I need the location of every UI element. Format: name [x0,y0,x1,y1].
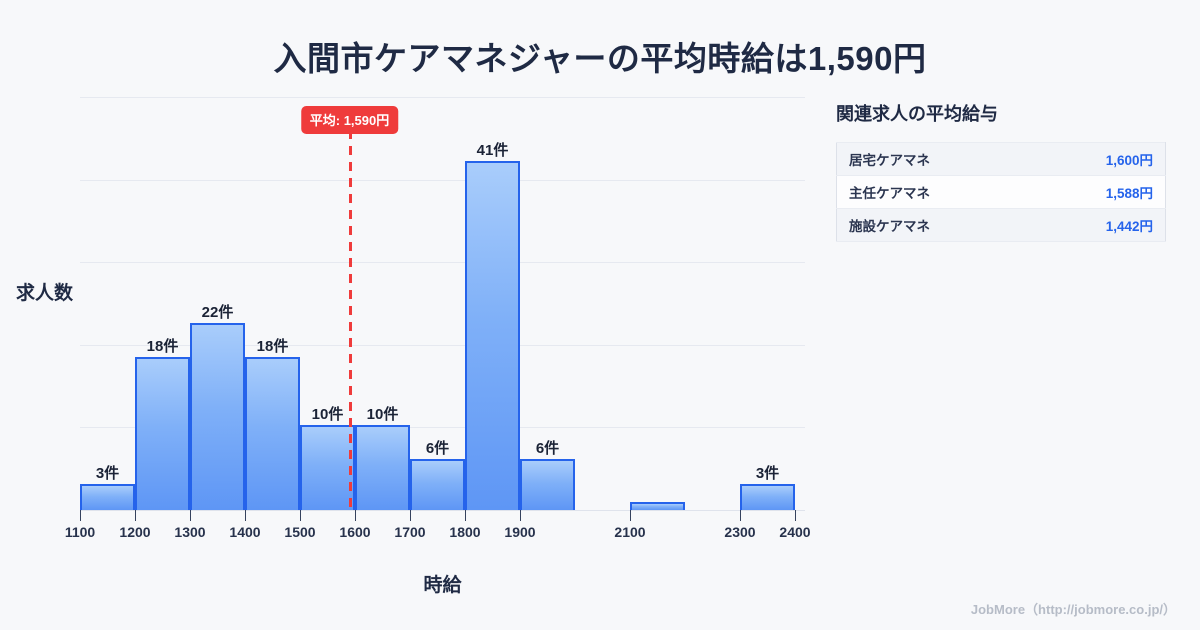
bar-value-label: 3件 [96,462,119,483]
x-axis-tick-label: 1500 [284,524,315,540]
histogram-bar [80,484,135,510]
gridline [80,180,805,181]
x-axis-tick [740,510,741,521]
table-row: 主任ケアマネ1,588円 [837,176,1166,209]
x-axis-tick [80,510,81,521]
x-axis-tick [410,510,411,521]
bar-value-label: 6件 [426,437,449,458]
table-row: 居宅ケアマネ1,600円 [837,143,1166,176]
histogram-bar [630,502,685,511]
job-type-name: 主任ケアマネ [837,176,1033,209]
bar-value-label: 10件 [367,403,399,424]
job-type-salary: 1,588円 [1032,176,1165,209]
x-axis-tick-label: 1300 [174,524,205,540]
histogram-bar [410,459,465,510]
job-type-name: 居宅ケアマネ [837,143,1033,176]
bar-value-label: 22件 [202,301,234,322]
x-axis-tick-label: 1400 [229,524,260,540]
x-axis-line [80,510,805,511]
x-axis-tick-label: 1800 [449,524,480,540]
gridline [80,345,805,346]
histogram-bar [355,425,410,510]
histogram-bar [740,484,795,510]
x-axis-tick-label: 1700 [394,524,425,540]
related-salary-table: 居宅ケアマネ1,600円主任ケアマネ1,588円施設ケアマネ1,442円 [836,142,1166,242]
x-axis-tick-label: 1100 [65,524,95,540]
mean-dashed-line [349,130,352,510]
x-axis-tick-label: 1200 [119,524,150,540]
bar-value-label: 18件 [147,335,179,356]
x-axis-tick [630,510,631,521]
x-axis-tick-label: 2100 [614,524,645,540]
x-axis-tick [465,510,466,521]
job-type-salary: 1,600円 [1032,143,1165,176]
histogram-bar [465,161,520,510]
related-salary-panel: 関連求人の平均給与 居宅ケアマネ1,600円主任ケアマネ1,588円施設ケアマネ… [836,100,1168,242]
job-type-salary: 1,442円 [1032,209,1165,242]
bar-value-label: 41件 [477,139,509,160]
chart-page: 入間市ケアマネジャーの平均時給は1,590円 3件18件22件18件10件10件… [0,0,1200,630]
gridline [80,97,805,98]
x-axis-title: 時給 [80,570,805,597]
gridline [80,262,805,263]
bar-value-label: 3件 [756,462,779,483]
bar-value-label: 10件 [312,403,344,424]
histogram-bar [520,459,575,510]
x-axis-tick [135,510,136,521]
footer-credit: JobMore（http://jobmore.co.jp/） [971,599,1176,618]
bar-value-label: 18件 [257,335,289,356]
x-axis-tick [245,510,246,521]
histogram-bar [245,357,300,510]
histogram-bar [190,323,245,510]
histogram-chart: 3件18件22件18件10件10件6件41件6件3件 1100120013001… [0,0,830,630]
x-axis-tick [300,510,301,521]
histogram-bar [135,357,190,510]
x-axis-tick-label: 2400 [779,524,810,540]
histogram-bar [300,425,355,510]
y-axis-title: 求人数 [16,278,73,305]
x-axis-tick-label: 2300 [724,524,755,540]
bar-value-label: 6件 [536,437,559,458]
x-axis-tick [520,510,521,521]
related-salary-heading: 関連求人の平均給与 [836,100,1168,126]
x-axis-tick [795,510,796,521]
x-axis-tick-label: 1900 [504,524,535,540]
mean-badge: 平均: 1,590円 [301,106,398,134]
x-axis-tick [355,510,356,521]
table-row: 施設ケアマネ1,442円 [837,209,1166,242]
job-type-name: 施設ケアマネ [837,209,1033,242]
x-axis-tick [190,510,191,521]
x-axis-tick-label: 1600 [339,524,370,540]
